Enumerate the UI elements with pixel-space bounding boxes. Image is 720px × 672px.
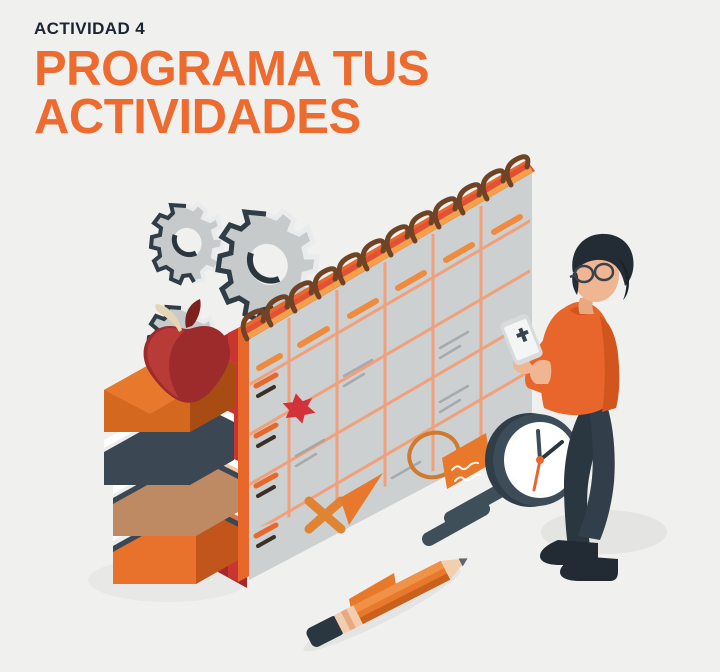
page-root: ACTIVIDAD 4 PROGRAMA TUS ACTIVIDADES	[0, 0, 720, 672]
planning-calendar-illustration	[0, 140, 720, 672]
pencil	[298, 550, 472, 661]
gear-small-top	[151, 204, 223, 283]
page-title: PROGRAMA TUS ACTIVIDADES	[34, 45, 464, 142]
page-header: ACTIVIDAD 4 PROGRAMA TUS ACTIVIDADES	[34, 20, 464, 142]
activity-eyebrow: ACTIVIDAD 4	[34, 20, 464, 39]
page-title-line-1: PROGRAMA TUS	[34, 45, 464, 94]
page-title-line-2: ACTIVIDADES	[34, 93, 464, 142]
highlight-strokes	[429, 488, 505, 539]
